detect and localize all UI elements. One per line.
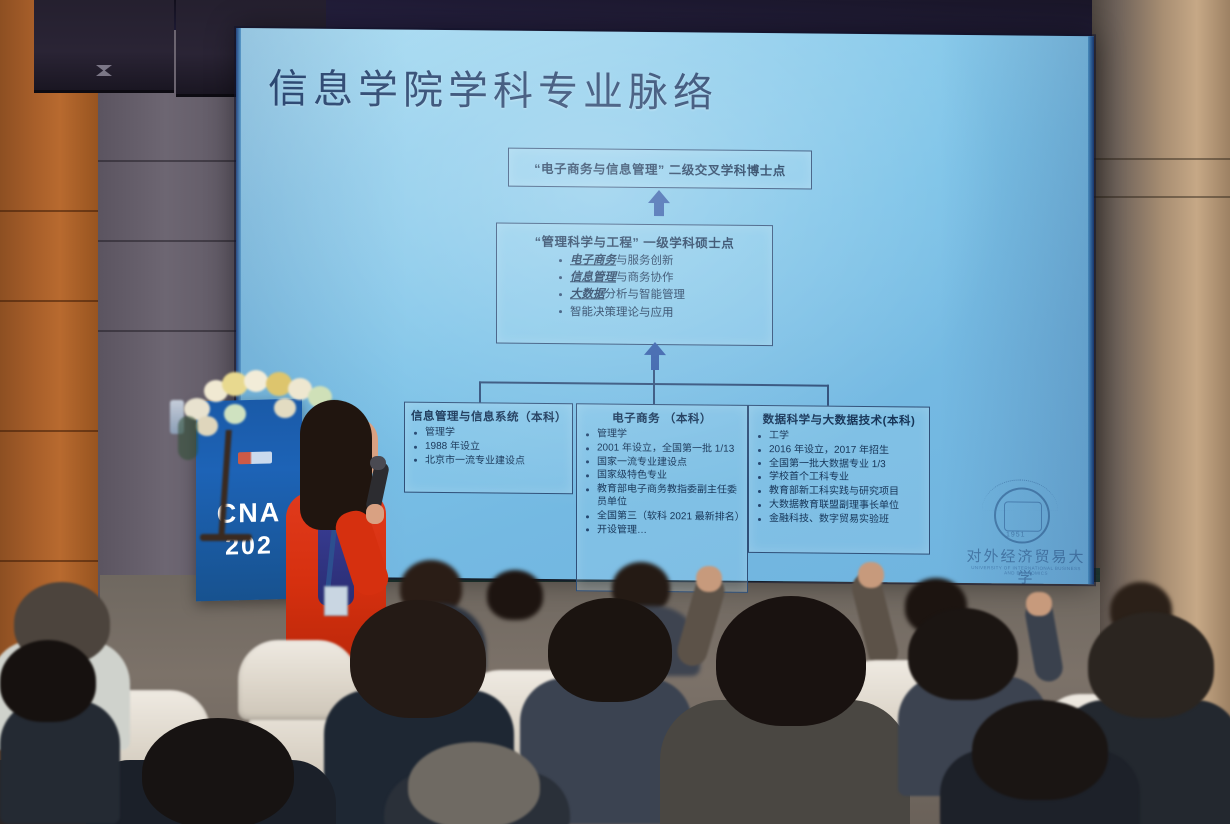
- audience-head: [408, 742, 540, 824]
- arrow-master-to-doctorate-shaft: [654, 202, 664, 216]
- bachelor-ecommerce-title: 电子商务 （本科）: [583, 409, 741, 427]
- bullet-item: 管理学: [586, 428, 741, 442]
- master-bullet: 智能决策理论与应用: [559, 305, 772, 322]
- master-bullet: 大数据分析与智能管理: [559, 288, 772, 305]
- bullet-item: 金融科技、数字贸易实验班: [758, 513, 923, 527]
- bullet-item: 2016 年设立，2017 年招生: [758, 444, 923, 458]
- bullet-item: 1988 年设立: [414, 441, 566, 455]
- bachelors-bracket-stem: [653, 370, 655, 384]
- bullet-item: 教育部新工科实践与研究项目: [758, 485, 923, 499]
- bullet-item: 全国第一批大数据专业 1/3: [758, 458, 923, 472]
- arrow-bachelors-to-master-shaft: [651, 354, 659, 370]
- logo-name-en: UNIVERSITY OF INTERNATIONAL BUSINESS AND…: [966, 565, 1086, 576]
- bullet-item: 开设管理…: [586, 524, 741, 538]
- bachelor-box-datascience: 数据科学与大数据技术(本科) 工学 2016 年设立，2017 年招生 全国第一…: [748, 405, 930, 555]
- bullet-item: 国家级特色专业: [586, 470, 741, 484]
- audience-raised-hand: [1026, 592, 1052, 616]
- bachelor-datascience-bullets: 工学 2016 年设立，2017 年招生 全国第一批大数据专业 1/3 学校首个…: [755, 430, 923, 527]
- master-label: “管理科学与工程” 一级学科硕士点: [497, 231, 772, 253]
- bachelor-ecommerce-bullets: 管理学 2001 年设立，全国第一批 1/13 国家一流专业建设点 国家级特色专…: [583, 428, 741, 538]
- audience-head: [0, 640, 96, 722]
- audience-raised-hand: [696, 566, 722, 592]
- bachelor-box-mis: 信息管理与信息系统（本科） 管理学 1988 年设立 北京市一流专业建设点: [404, 402, 573, 495]
- bachelor-box-ecommerce: 电子商务 （本科） 管理学 2001 年设立，全国第一批 1/13 国家一流专业…: [576, 403, 748, 593]
- bullet-item: 全国第三（软科 2021 最新排名）: [586, 510, 741, 524]
- audience-head: [487, 570, 543, 620]
- audience-head: [716, 596, 866, 726]
- master-program-box: “管理科学与工程” 一级学科硕士点 电子商务与服务创新 信息管理与商务协作 大数…: [496, 222, 773, 346]
- bachelor-mis-bullets: 管理学 1988 年设立 北京市一流专业建设点: [411, 427, 566, 469]
- master-bullet-list: 电子商务与服务创新 信息管理与商务协作 大数据分析与智能管理 智能决策理论与应用: [497, 253, 772, 322]
- bachelors-bracket-drop-left: [479, 381, 481, 402]
- doctorate-program-box: “电子商务与信息管理” 二级交叉学科博士点: [508, 148, 812, 190]
- audience-head: [142, 718, 294, 824]
- bullet-item: 管理学: [414, 427, 566, 441]
- master-bullet: 电子商务与服务创新: [559, 253, 772, 270]
- bullet-item: 工学: [758, 430, 923, 444]
- master-bullet: 信息管理与商务协作: [559, 270, 772, 287]
- bachelors-bracket-drop-mid: [653, 383, 655, 404]
- presenter-hand: [366, 504, 384, 524]
- conference-photo-scene: 信息学院学科专业脉络 “电子商务与信息管理” 二级交叉学科博士点 “管理科学与工…: [0, 0, 1230, 824]
- logo-inner-shape-icon: [1004, 501, 1042, 531]
- bachelor-mis-title: 信息管理与信息系统（本科）: [411, 408, 566, 425]
- microphone-head-icon: [370, 456, 386, 470]
- bullet-item: 国家一流专业建设点: [586, 456, 741, 470]
- logo-year: 1951: [1006, 531, 1026, 538]
- bachelors-bracket-drop-right: [827, 385, 829, 406]
- audience-head: [972, 700, 1108, 800]
- bullet-item: 教育部电子商务教指委副主任委员单位: [586, 484, 741, 511]
- bullet-item: 2001 年设立，全国第一批 1/13: [586, 442, 741, 456]
- arrow-master-to-doctorate-head: [648, 190, 670, 203]
- presenter-badge: [324, 586, 348, 616]
- audience-head: [1088, 612, 1214, 718]
- bullet-item: 北京市一流专业建设点: [414, 454, 566, 468]
- bullet-item: 大数据教育联盟副理事长单位: [758, 499, 923, 513]
- bachelor-datascience-title: 数据科学与大数据技术(本科): [755, 411, 923, 429]
- university-logo: 1951 对外经济贸易大学 UNIVERSITY OF INTERNATIONA…: [966, 485, 1086, 576]
- audience-head: [350, 600, 486, 718]
- audience-head: [548, 598, 672, 702]
- doctorate-label: “电子商务与信息管理” 二级交叉学科博士点: [534, 158, 785, 179]
- ceiling-speaker-left: [34, 0, 174, 93]
- slide-title: 信息学院学科专业脉络: [268, 56, 718, 118]
- arrow-bachelors-to-master-head: [644, 342, 666, 355]
- bullet-item: 学校首个工科专业: [758, 471, 923, 485]
- audience-head: [908, 608, 1018, 700]
- audience-raised-hand: [858, 562, 884, 588]
- speaker-brand-icon: [96, 65, 112, 76]
